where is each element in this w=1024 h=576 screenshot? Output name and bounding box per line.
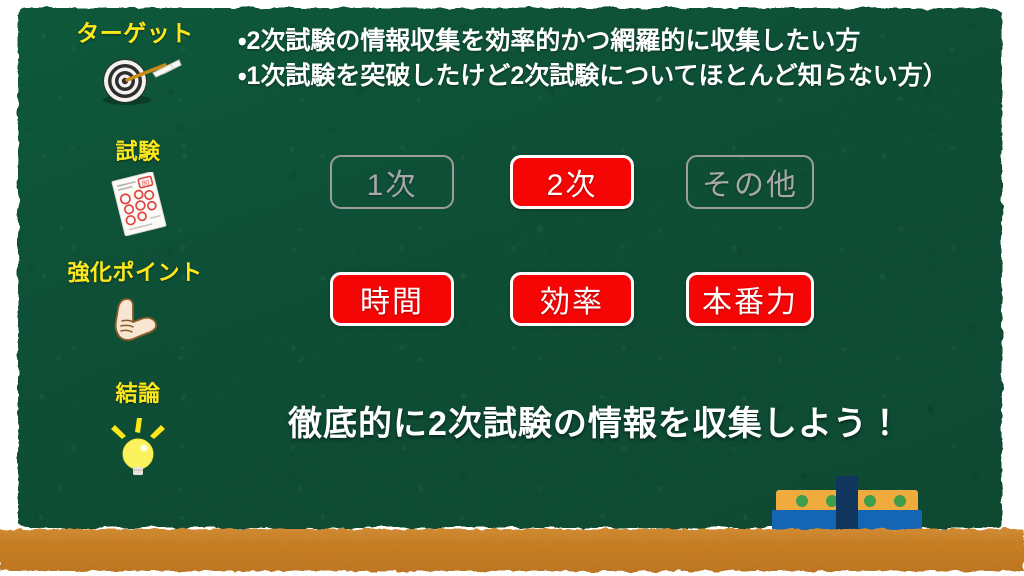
section-target: ターゲット: [50, 14, 220, 108]
focus-option-performance[interactable]: 本番力: [686, 272, 814, 326]
chalk-eraser-icon: [758, 476, 936, 530]
chip-label: 時間: [360, 277, 424, 321]
exam-option-group: 1次 2次 その他: [330, 155, 814, 209]
target-dartboard-icon: [87, 54, 183, 108]
target-audience-list: ・2次試験の情報収集を効率的かつ網羅的に収集したい方 ・1次試験を突破したけど2…: [238, 24, 1008, 94]
chip-label: 効率: [540, 277, 604, 321]
list-item: ・1次試験を突破したけど2次試験についてほとんど知らない方）: [238, 59, 1008, 94]
chip-label: 2次: [547, 160, 598, 204]
conclusion-text: 徹底的に2次試験の情報を収集しよう！: [288, 396, 903, 445]
chip-label: その他: [702, 160, 798, 204]
section-exam: 試験 80: [78, 134, 198, 236]
exam-option-2ji[interactable]: 2次: [510, 155, 634, 209]
chip-label: 1次: [367, 160, 418, 204]
chip-label: 本番力: [702, 277, 798, 321]
section-label-conclusion: 結論: [78, 376, 198, 408]
exam-option-other[interactable]: その他: [686, 155, 814, 209]
lightbulb-icon: [95, 414, 181, 476]
section-label-focus-points: 強化ポイント: [45, 255, 225, 287]
pointing-up-hand-icon: [95, 293, 175, 351]
list-item: ・2次試験の情報収集を効率的かつ網羅的に収集したい方: [238, 24, 1008, 59]
section-label-exam: 試験: [78, 134, 198, 166]
exam-option-1ji[interactable]: 1次: [330, 155, 454, 209]
section-focus-points: 強化ポイント: [45, 255, 225, 351]
focus-option-time[interactable]: 時間: [330, 272, 454, 326]
graded-test-paper-icon: 80: [96, 172, 180, 236]
focus-point-group: 時間 効率 本番力: [330, 272, 814, 326]
focus-option-efficiency[interactable]: 効率: [510, 272, 634, 326]
slide-canvas: ターゲット 試験: [0, 0, 1024, 576]
section-conclusion: 結論: [78, 376, 198, 476]
chalk-ledge: [0, 529, 1024, 571]
section-label-target: ターゲット: [50, 14, 220, 48]
